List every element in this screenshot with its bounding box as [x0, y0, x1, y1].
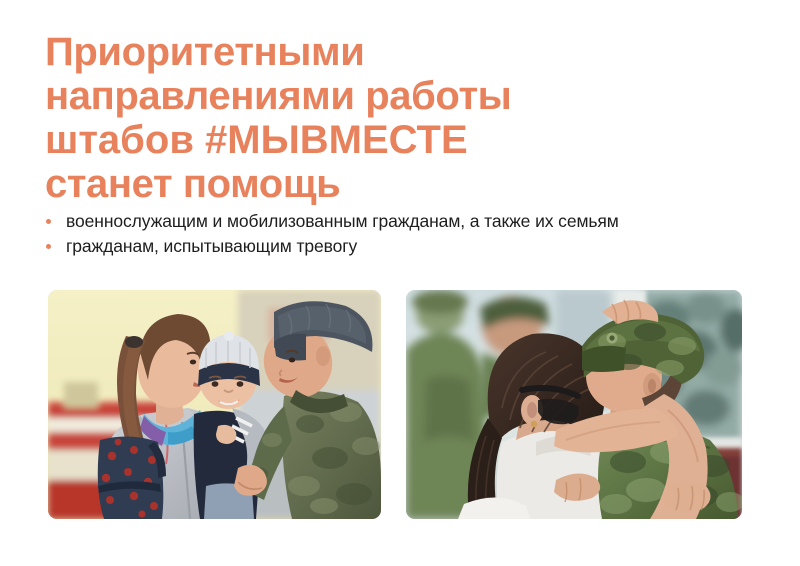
- page-title: Приоритетными направлениями работы штабо…: [45, 30, 665, 206]
- photo-soldier-embrace: [406, 290, 742, 519]
- title-line-3: штабов #МЫВМЕСТЕ: [45, 118, 665, 162]
- list-item: военнослужащим и мобилизованным граждана…: [45, 209, 685, 234]
- bullet-list: военнослужащим и мобилизованным граждана…: [45, 209, 685, 259]
- list-item-label: военнослужащим и мобилизованным граждана…: [66, 211, 619, 231]
- photo-right-illustration: [406, 290, 742, 519]
- slide-canvas: Приоритетными направлениями работы штабо…: [0, 0, 800, 566]
- title-line-1: Приоритетными: [45, 30, 665, 74]
- photo-left-illustration: [48, 290, 381, 519]
- title-line-4: станет помощь: [45, 162, 665, 206]
- list-item: гражданам, испытывающим тревогу: [45, 234, 685, 259]
- title-line-2: направлениями работы: [45, 74, 665, 118]
- bullet-dot-icon: [46, 244, 51, 249]
- list-item-label: гражданам, испытывающим тревогу: [66, 236, 357, 256]
- bullet-dot-icon: [46, 219, 51, 224]
- photo-family-soldier: [48, 290, 381, 519]
